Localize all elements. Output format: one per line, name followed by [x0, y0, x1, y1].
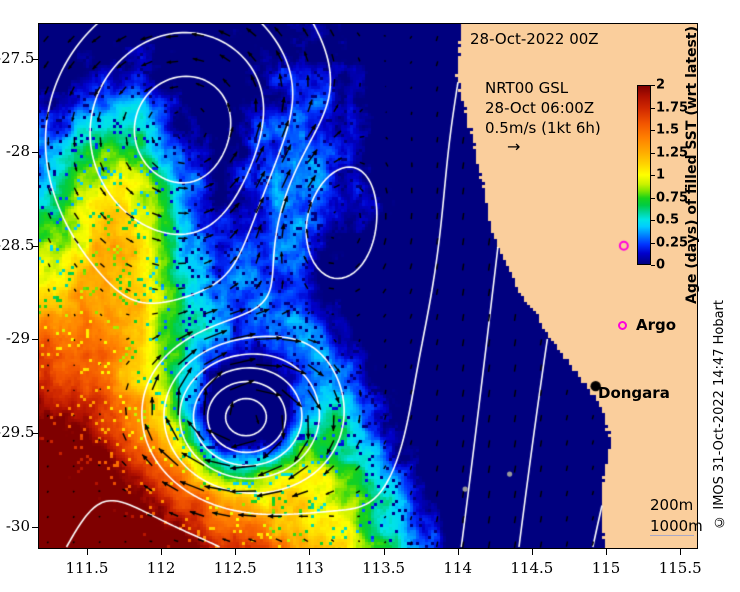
colorbar-tick-label: 1 — [656, 168, 665, 183]
x-axis-tick-label: 113 — [274, 559, 344, 577]
x-axis-tick-label: 115.5 — [645, 559, 715, 577]
y-axis-tick-label: -30 — [0, 517, 30, 535]
bathymetry-legend-row: 1000m — [650, 516, 703, 537]
bathymetry-line-sample — [650, 535, 694, 536]
legend-item-argo: Argo — [618, 316, 676, 334]
colorbar-tick-label: 0.25 — [656, 235, 688, 250]
map-title: 28-Oct-2022 00Z — [470, 30, 599, 48]
y-axis-tick-label: -29 — [0, 329, 30, 347]
colorbar-tick-label: 1.5 — [656, 123, 679, 138]
x-axis-tick — [309, 549, 310, 555]
x-axis-tick — [680, 549, 681, 555]
vector-scale-line: 0.5m/s (1kt 6h) — [485, 118, 601, 138]
argo-circle-marker-icon — [618, 321, 627, 330]
colorbar-tick-label: 0.5 — [656, 213, 679, 228]
colorbar-tick-group — [637, 85, 651, 265]
x-axis-tick-label: 112.5 — [200, 559, 270, 577]
x-axis-tick — [161, 549, 162, 555]
bathymetry-contour-legend: 200m 1000m — [650, 495, 703, 537]
colorbar-tick — [651, 220, 655, 221]
x-axis-tick — [87, 549, 88, 555]
product-annotation-block: NRT00 GSL 28-Oct 06:00Z 0.5m/s (1kt 6h) … — [485, 78, 601, 156]
bathymetry-legend-row: 200m — [650, 495, 703, 516]
colorbar-tick — [651, 198, 655, 199]
x-axis-tick-label: 114.5 — [497, 559, 567, 577]
colorbar-tick-label: 1.25 — [656, 145, 688, 160]
colorbar-tick-label: 1.75 — [656, 100, 688, 115]
x-axis-tick-label: 113.5 — [349, 559, 419, 577]
dongara-place-label: Dongara — [598, 384, 670, 402]
colorbar-tick — [651, 108, 655, 109]
colorbar-title: Age (days) of filled SST (wrt latest) — [682, 20, 702, 310]
x-axis-tick — [532, 549, 533, 555]
colorbar-tick — [651, 175, 655, 176]
x-axis-tick-label: 112 — [126, 559, 196, 577]
y-axis-tick-label: -28.5 — [0, 236, 30, 254]
y-axis-tick — [32, 339, 38, 340]
y-axis-tick-label: -29.5 — [0, 423, 30, 441]
x-axis-tick-label: 111.5 — [52, 559, 122, 577]
colorbar-tick — [651, 265, 655, 266]
colorbar-tick — [651, 130, 655, 131]
x-axis-tick — [384, 549, 385, 555]
bathymetry-label-200m: 200m — [650, 496, 693, 514]
colorbar-tick — [651, 153, 655, 154]
vector-key-arrow-icon: → — [485, 138, 601, 156]
x-axis-tick — [235, 549, 236, 555]
x-axis-tick-label: 114 — [423, 559, 493, 577]
product-time-line: 28-Oct 06:00Z — [485, 98, 601, 118]
colorbar-tick-label: 0 — [656, 258, 665, 273]
colorbar-tick — [651, 85, 655, 86]
x-axis-tick-label: 115 — [571, 559, 641, 577]
argo-legend-label: Argo — [636, 316, 676, 334]
colorbar-tick — [651, 243, 655, 244]
y-axis-tick-label: -27.5 — [0, 49, 30, 67]
y-axis-tick — [32, 152, 38, 153]
product-name-line: NRT00 GSL — [485, 78, 601, 98]
colorbar-tick-label: 0.75 — [656, 190, 688, 205]
figure-root: 28-Oct-2022 00Z NRT00 GSL 28-Oct 06:00Z … — [0, 0, 740, 592]
x-axis-tick — [606, 549, 607, 555]
copyright-notice: © IMOS 31-Oct-2022 14:47 Hobart — [712, 300, 727, 529]
colorbar-tick-label: 2 — [656, 78, 665, 93]
x-axis-tick — [458, 549, 459, 555]
bathymetry-label-1000m: 1000m — [650, 517, 703, 535]
y-axis-tick — [32, 527, 38, 528]
y-axis-tick-label: -28 — [0, 142, 30, 160]
